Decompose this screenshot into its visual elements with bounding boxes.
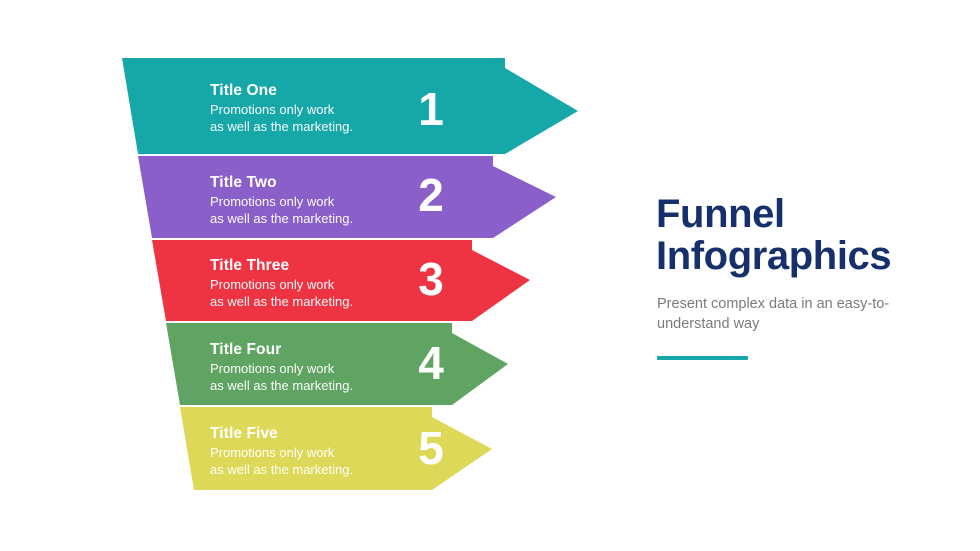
funnel-band-2-shape[interactable]	[138, 156, 556, 238]
page-title: Funnel Infographics	[656, 193, 956, 278]
right-text-panel: Funnel Infographics Present complex data…	[656, 193, 956, 360]
page-title-line-1: Funnel	[656, 193, 956, 235]
funnel-band-4-shape[interactable]	[166, 323, 508, 405]
funnel-band-1-shape[interactable]	[122, 58, 578, 154]
page-subtitle: Present complex data in an easy-to-under…	[657, 294, 909, 334]
slide-canvas: Title One Promotions only work as well a…	[0, 0, 980, 551]
funnel-band-5-shape[interactable]	[180, 407, 492, 490]
page-title-line-2: Infographics	[656, 235, 956, 277]
funnel-band-3-shape[interactable]	[152, 240, 530, 321]
accent-divider	[657, 356, 748, 360]
